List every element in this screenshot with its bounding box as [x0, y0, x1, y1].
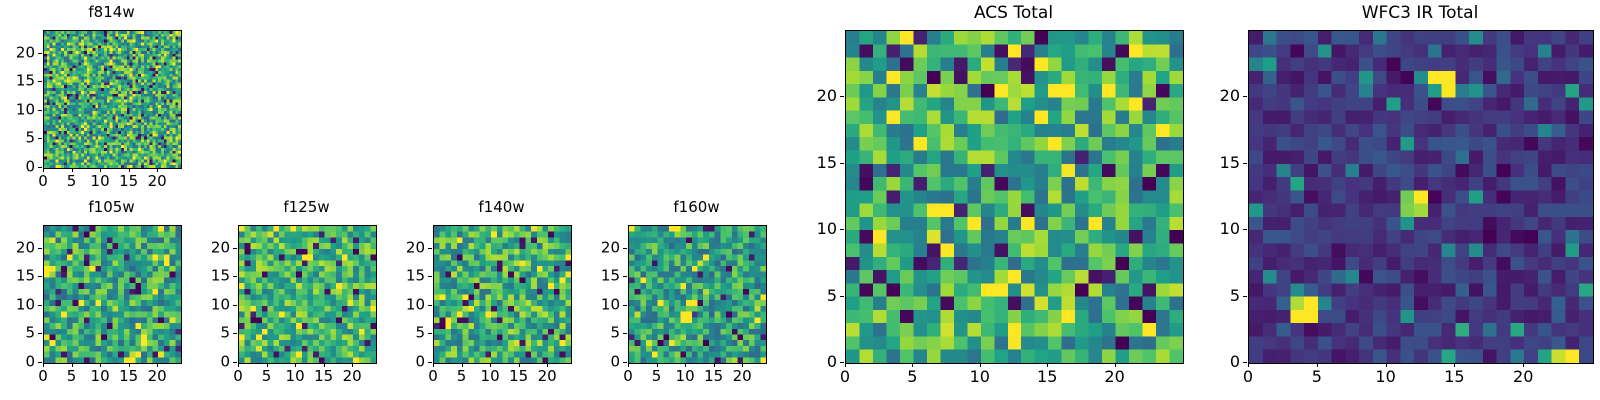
- y-tick-label: 5: [1188, 288, 1240, 304]
- plot-area[interactable]: [1248, 30, 1594, 364]
- x-tick-label: 0: [1243, 369, 1253, 385]
- heatmap-image: [1249, 31, 1593, 363]
- y-tick-mark: [1243, 163, 1247, 164]
- y-tick-mark: [1243, 96, 1247, 97]
- y-tick-label: 20: [1188, 88, 1240, 104]
- x-tick-label: 15: [1444, 369, 1464, 385]
- x-tick-label: 10: [1375, 369, 1395, 385]
- y-tick-label: 0: [1188, 354, 1240, 370]
- y-tick-mark: [1243, 229, 1247, 230]
- panel-wfc3-ir-total: WFC3 IR Total0510152005101520: [0, 0, 1600, 400]
- x-tick-label: 20: [1513, 369, 1533, 385]
- y-tick-label: 10: [1188, 221, 1240, 237]
- y-tick-label: 15: [1188, 155, 1240, 171]
- y-tick-mark: [1243, 296, 1247, 297]
- panel-title: WFC3 IR Total: [1248, 5, 1592, 22]
- x-tick-label: 5: [1312, 369, 1322, 385]
- y-tick-mark: [1243, 362, 1247, 363]
